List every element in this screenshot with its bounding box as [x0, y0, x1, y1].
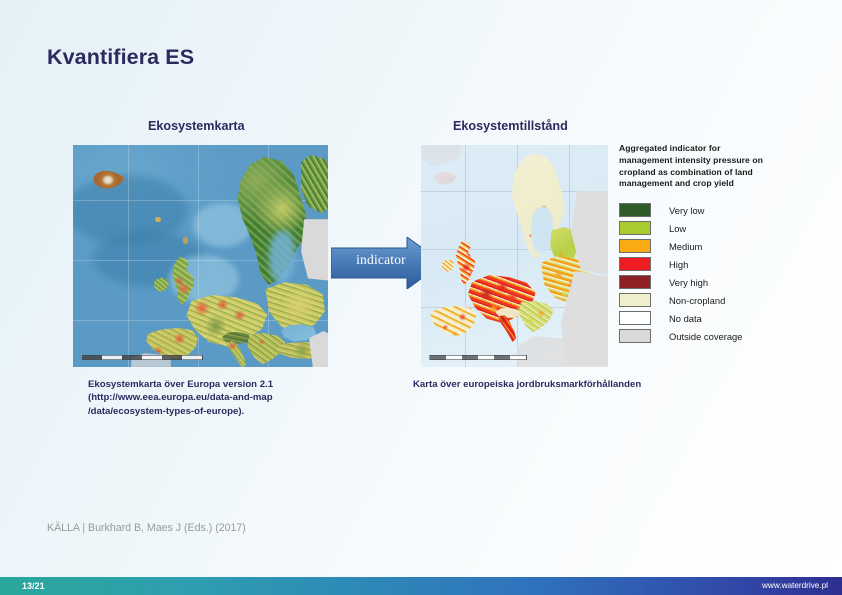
legend-swatch-no-data — [619, 311, 651, 325]
legend-row-non-cropland: Non-cropland — [619, 291, 829, 309]
caption-condition-map: Karta över europeiska jordbruksmarkförhå… — [413, 378, 713, 391]
legend-row-very-low: Very low — [619, 201, 829, 219]
source-line: KÄLLA | Burkhard B, Maes J (Eds.) (2017) — [47, 522, 246, 534]
arrow-label: indicator — [345, 252, 417, 268]
map-scale-bar — [429, 355, 527, 360]
map-legend: Aggregated indicator for management inte… — [619, 143, 829, 345]
legend-label: High — [669, 259, 688, 270]
legend-row-high: High — [619, 255, 829, 273]
legend-row-outside-coverage: Outside coverage — [619, 327, 829, 345]
baltic-sea — [269, 231, 295, 283]
legend-swatch-high — [619, 257, 651, 271]
legend-label: Outside coverage — [669, 331, 742, 342]
caption-line: (http://www.eea.europa.eu/data-and-map — [88, 391, 338, 404]
legend-row-very-high: Very high — [619, 273, 829, 291]
legend-label: Medium — [669, 241, 702, 252]
slide-footer: 13/21 www.waterdrive.pl — [0, 577, 842, 595]
slide-canvas: Kvantifiera ES Ekosystemkarta — [0, 0, 842, 595]
caption-line: Karta över europeiska jordbruksmarkförhå… — [413, 378, 713, 391]
cropland-map-canvas: 0 500 1000 1500 km — [421, 145, 608, 367]
caption-ecosystem-map: Ekosystemkarta över Europa version 2.1 (… — [88, 378, 338, 418]
ecosystem-map-image: 0 500 1000 1500 km — [73, 145, 328, 367]
panel-heading-ecosystem-condition: Ekosystemtillstånd — [453, 119, 568, 133]
legend-swatch-non-cropland — [619, 293, 651, 307]
graticule-line — [128, 145, 129, 367]
legend-title: Aggregated indicator for management inte… — [619, 143, 769, 190]
cropland-intensity-map-image: 0 500 1000 1500 km — [421, 145, 608, 367]
page-number: 13/21 — [22, 581, 45, 591]
legend-row-no-data: No data — [619, 309, 829, 327]
footer-url[interactable]: www.waterdrive.pl — [762, 581, 828, 590]
legend-label: No data — [669, 313, 702, 324]
legend-label: Non-cropland — [669, 295, 725, 306]
panel-heading-ecosystem-map: Ekosystemkarta — [148, 119, 245, 133]
legend-items: Very low Low Medium High Very high Non-c… — [619, 201, 829, 345]
legend-swatch-medium — [619, 239, 651, 253]
legend-label: Low — [669, 223, 686, 234]
page-title: Kvantifiera ES — [47, 45, 194, 70]
landmass-shetland — [183, 237, 188, 244]
legend-row-medium: Medium — [619, 237, 829, 255]
legend-row-low: Low — [619, 219, 829, 237]
legend-label: Very low — [669, 205, 704, 216]
legend-swatch-low — [619, 221, 651, 235]
caption-line: Ekosystemkarta över Europa version 2.1 — [88, 378, 338, 391]
legend-swatch-outside-coverage — [619, 329, 651, 343]
legend-swatch-very-low — [619, 203, 651, 217]
caption-line: /data/ecosystem-types-of-europe). — [88, 405, 338, 418]
landmass-faroe — [155, 217, 161, 222]
ecosystem-map-canvas: 0 500 1000 1500 km — [73, 145, 328, 367]
legend-swatch-very-high — [619, 275, 651, 289]
legend-label: Very high — [669, 277, 708, 288]
graticule-line — [198, 145, 199, 367]
map-scale-bar — [81, 355, 203, 360]
